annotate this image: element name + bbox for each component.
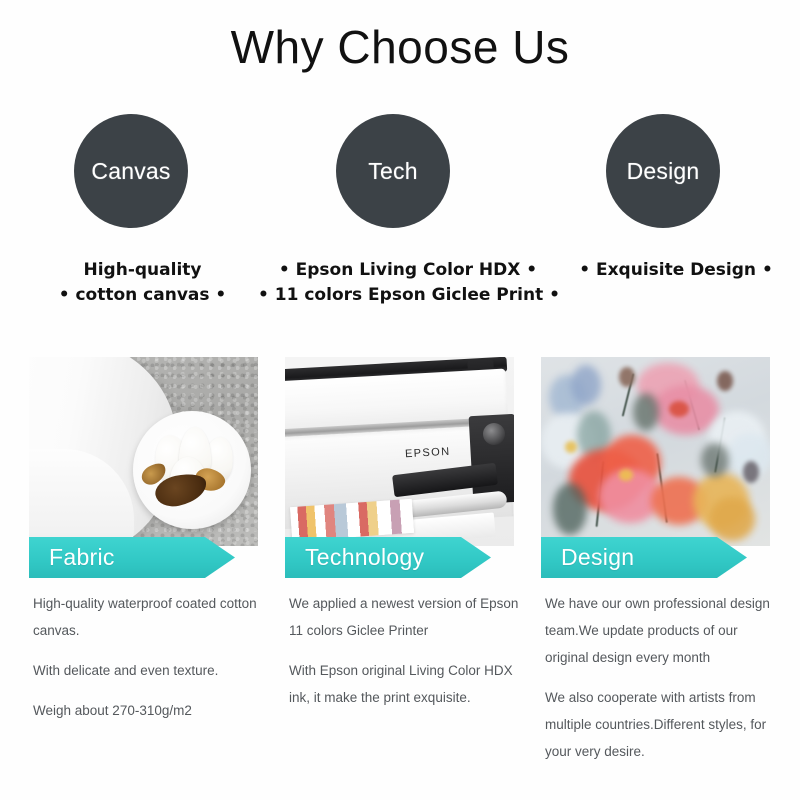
paragraph: With Epson original Living Color HDX ink…: [289, 657, 521, 711]
fabric-description: High-quality waterproof coated cotton ca…: [33, 590, 265, 724]
caption-line-1: High-quality: [20, 258, 265, 283]
flower-center: [619, 469, 633, 481]
why-choose-us-infographic: Why Choose Us Canvas Tech Design High-qu…: [0, 0, 800, 800]
banner-label: Technology: [305, 544, 424, 571]
dark-leaf: [633, 393, 659, 431]
printer-spindle-knob: [483, 423, 505, 445]
feature-columns: Fabric High-quality waterproof coated co…: [0, 357, 800, 797]
dark-leaf: [553, 483, 587, 535]
design-description: We have our own professional design team…: [545, 590, 777, 765]
badge-circle-tech: Tech: [336, 114, 450, 228]
printer-photo: EPSON: [285, 357, 514, 546]
paragraph: We also cooperate with artists from mult…: [545, 684, 777, 765]
flower-bud: [743, 461, 759, 483]
epson-brand-text: EPSON: [405, 446, 451, 461]
paragraph: We have our own professional design team…: [545, 590, 777, 671]
caption-line-1: • Exquisite Design •: [556, 258, 796, 283]
caption-tech: • Epson Living Color HDX • • 11 colors E…: [258, 258, 558, 308]
feature-column-design: Design We have our own professional desi…: [541, 357, 770, 546]
page-title: Why Choose Us: [0, 20, 800, 74]
flower-bud: [717, 371, 733, 391]
banner-design: Design: [541, 537, 747, 578]
flower-bud: [619, 367, 635, 387]
caption-line-2: • 11 colors Epson Giclee Print •: [258, 283, 558, 308]
caption-design: • Exquisite Design •: [556, 258, 796, 283]
badge-circle-design: Design: [606, 114, 720, 228]
technology-description: We applied a newest version of Epson 11 …: [289, 590, 521, 711]
caption-line-2: • cotton canvas •: [20, 283, 265, 308]
badge-label: Tech: [368, 158, 417, 185]
caption-line-1: • Epson Living Color HDX •: [258, 258, 558, 283]
yellow-petal: [709, 497, 755, 541]
caption-row: High-quality • cotton canvas • • Epson L…: [0, 258, 800, 328]
badge-circle-canvas: Canvas: [74, 114, 188, 228]
paragraph: Weigh about 270-310g/m2: [33, 697, 265, 724]
badge-row: Canvas Tech Design: [0, 114, 800, 230]
fabric-photo: [29, 357, 258, 546]
paragraph: With delicate and even texture.: [33, 657, 265, 684]
banner-label: Fabric: [49, 544, 115, 571]
banner-label: Design: [561, 544, 634, 571]
flower-center: [565, 441, 577, 453]
feature-column-technology: EPSON Technology We applied a newest ver…: [285, 357, 514, 546]
blue-petal: [571, 365, 601, 405]
floral-artwork-photo: [541, 357, 770, 546]
banner-technology: Technology: [285, 537, 491, 578]
badge-label: Canvas: [91, 158, 170, 185]
dark-leaf: [701, 443, 729, 477]
caption-canvas: High-quality • cotton canvas •: [20, 258, 265, 308]
feature-column-fabric: Fabric High-quality waterproof coated co…: [29, 357, 258, 546]
paragraph: We applied a newest version of Epson 11 …: [289, 590, 521, 644]
paragraph: High-quality waterproof coated cotton ca…: [33, 590, 265, 644]
badge-label: Design: [627, 158, 700, 185]
flower-center: [669, 401, 689, 417]
banner-fabric: Fabric: [29, 537, 235, 578]
